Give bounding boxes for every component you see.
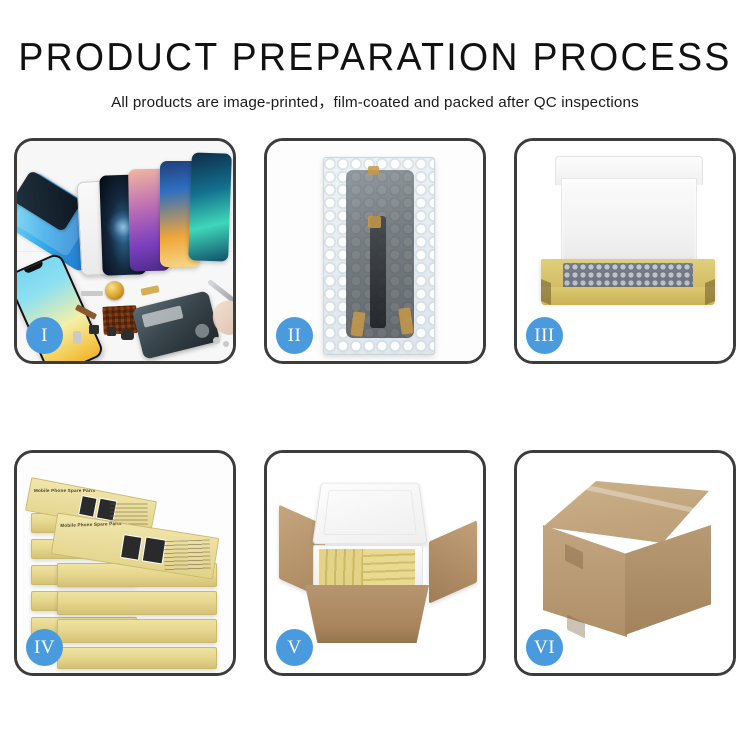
stacked-box: [57, 647, 217, 669]
small-chip-2-icon: [107, 327, 116, 336]
process-steps-grid: I II: [14, 138, 736, 676]
stacked-box: [57, 591, 217, 615]
step-badge-5: V: [276, 629, 313, 666]
phone-screen-teal-icon: [188, 152, 232, 261]
connector-part-icon: [81, 291, 103, 296]
product-swatch-2-icon: [142, 537, 167, 565]
speaker-part-icon: [121, 329, 134, 340]
copper-coil-icon: [105, 281, 124, 300]
product-swatch-icon: [120, 534, 143, 561]
sim-tray-icon: [73, 331, 81, 344]
header: PRODUCT PREPARATION PROCESS All products…: [0, 0, 750, 112]
step-badge-3: III: [526, 317, 563, 354]
box-corner-right-icon: [705, 279, 715, 305]
step-badge-6: VI: [526, 629, 563, 666]
gold-contact-2-icon: [368, 216, 381, 228]
page-title: PRODUCT PREPARATION PROCESS: [15, 38, 735, 77]
spec-lines-icon: [164, 539, 211, 571]
box-label-text: Mobile Phone Spare Parts: [60, 521, 122, 528]
box-label-text: Mobile Phone Spare Parts: [34, 488, 95, 493]
screw-icon: [213, 337, 220, 344]
step-panel-2: II: [264, 138, 486, 364]
box-corner-left-icon: [541, 279, 551, 305]
page-subtitle: All products are image-printed，film-coat…: [0, 90, 750, 112]
yellow-boxes-row-2-icon: [363, 549, 415, 585]
inner-box-front-icon: [541, 287, 715, 305]
product-swatch-icon: [78, 495, 98, 518]
gold-contact-icon: [368, 166, 379, 175]
step-badge-4: IV: [26, 629, 63, 666]
step-badge-2: II: [276, 317, 313, 354]
carton-body-icon: [305, 585, 429, 643]
step-panel-3: III: [514, 138, 736, 364]
bubble-wrap-bag-icon: [323, 157, 435, 355]
small-chip-icon: [89, 325, 99, 334]
step-panel-1: I: [14, 138, 236, 364]
product-preparation-infographic: PRODUCT PREPARATION PROCESS All products…: [0, 0, 750, 750]
step-panel-6: VI: [514, 450, 736, 676]
foam-sheet-icon: [561, 178, 697, 268]
step-panel-5: V: [264, 450, 486, 676]
screw-2-icon: [223, 341, 229, 347]
step-panel-4: Mobile Phone Spare Parts Mobile Phone Sp…: [14, 450, 236, 676]
foam-box-lid-icon: [312, 483, 428, 545]
flex-cable-strip-icon: [370, 216, 386, 328]
stacked-box: [57, 619, 217, 643]
step-badge-1: I: [26, 317, 63, 354]
